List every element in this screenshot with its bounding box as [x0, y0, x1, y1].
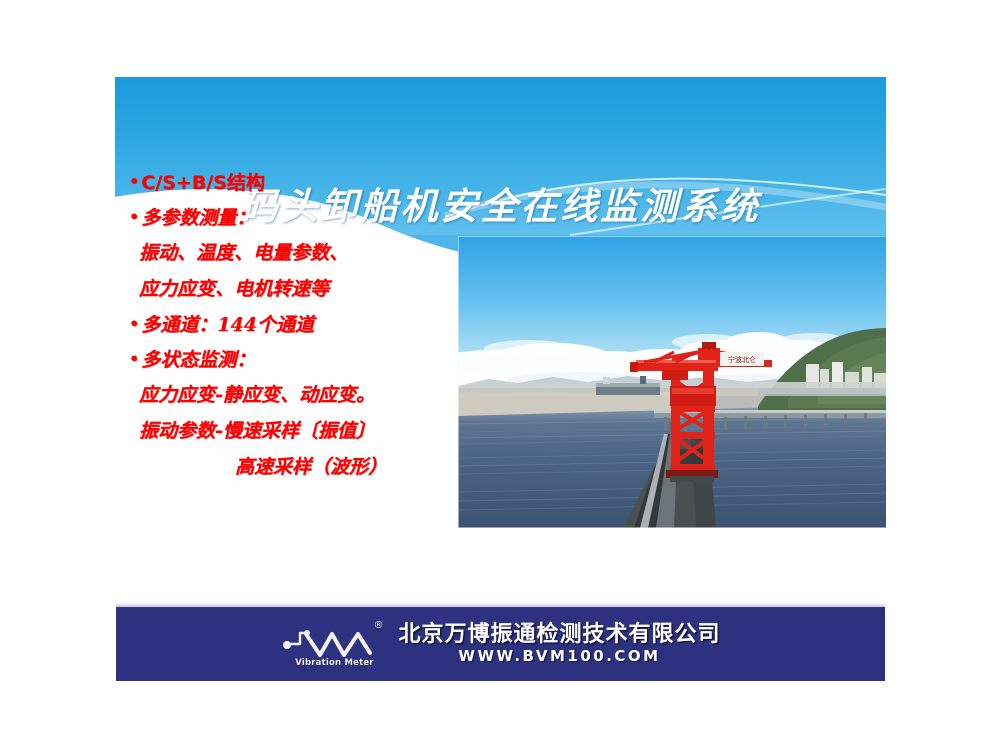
bullet-list: C/S+B/S结构 多参数测量： 振动、温度、电量参数、 应力应变、电机转速等 … — [127, 165, 507, 485]
harbor-ship-unloader-photo: 宁波北仑 — [458, 236, 886, 528]
list-item: 应力应变、电机转速等 — [127, 271, 507, 307]
list-item: 多通道：144个通道 — [127, 307, 507, 342]
logo-mark-icon — [280, 621, 384, 663]
list-item: 多状态监测： — [127, 342, 507, 377]
company-website: WWW.BVM100.COM — [398, 647, 720, 665]
company-name-cn: 北京万博振通检测技术有限公司 — [398, 621, 720, 647]
logo-wordmark: Vibration Meter — [284, 658, 384, 668]
list-item: 应力应变-静应变、动应变。 — [127, 377, 507, 413]
slide-content-card: 码头卸船机安全在线监测系统 C/S+B/S结构 多参数测量： 振动、温度、电量参… — [115, 77, 886, 537]
photo-illustration: 宁波北仑 — [458, 236, 886, 528]
presentation-slide: 码头卸船机安全在线监测系统 C/S+B/S结构 多参数测量： 振动、温度、电量参… — [0, 0, 1000, 750]
registered-trademark-icon: ® — [373, 621, 383, 631]
list-item: 高速采样（波形） — [127, 449, 507, 485]
vibration-waveform-logo: ® Vibration Meter — [280, 621, 384, 667]
list-item: 振动参数-慢速采样〔振值〕 — [127, 413, 507, 449]
list-item: C/S+B/S结构 — [127, 165, 507, 200]
footer-bar: ® Vibration Meter 北京万博振通检测技术有限公司 WWW.BVM… — [116, 607, 885, 681]
svg-text:宁波北仑: 宁波北仑 — [728, 355, 756, 364]
list-item: 振动、温度、电量参数、 — [127, 235, 507, 271]
list-item: 多参数测量： — [127, 200, 507, 235]
footer-company-block: 北京万博振通检测技术有限公司 WWW.BVM100.COM — [398, 621, 720, 667]
